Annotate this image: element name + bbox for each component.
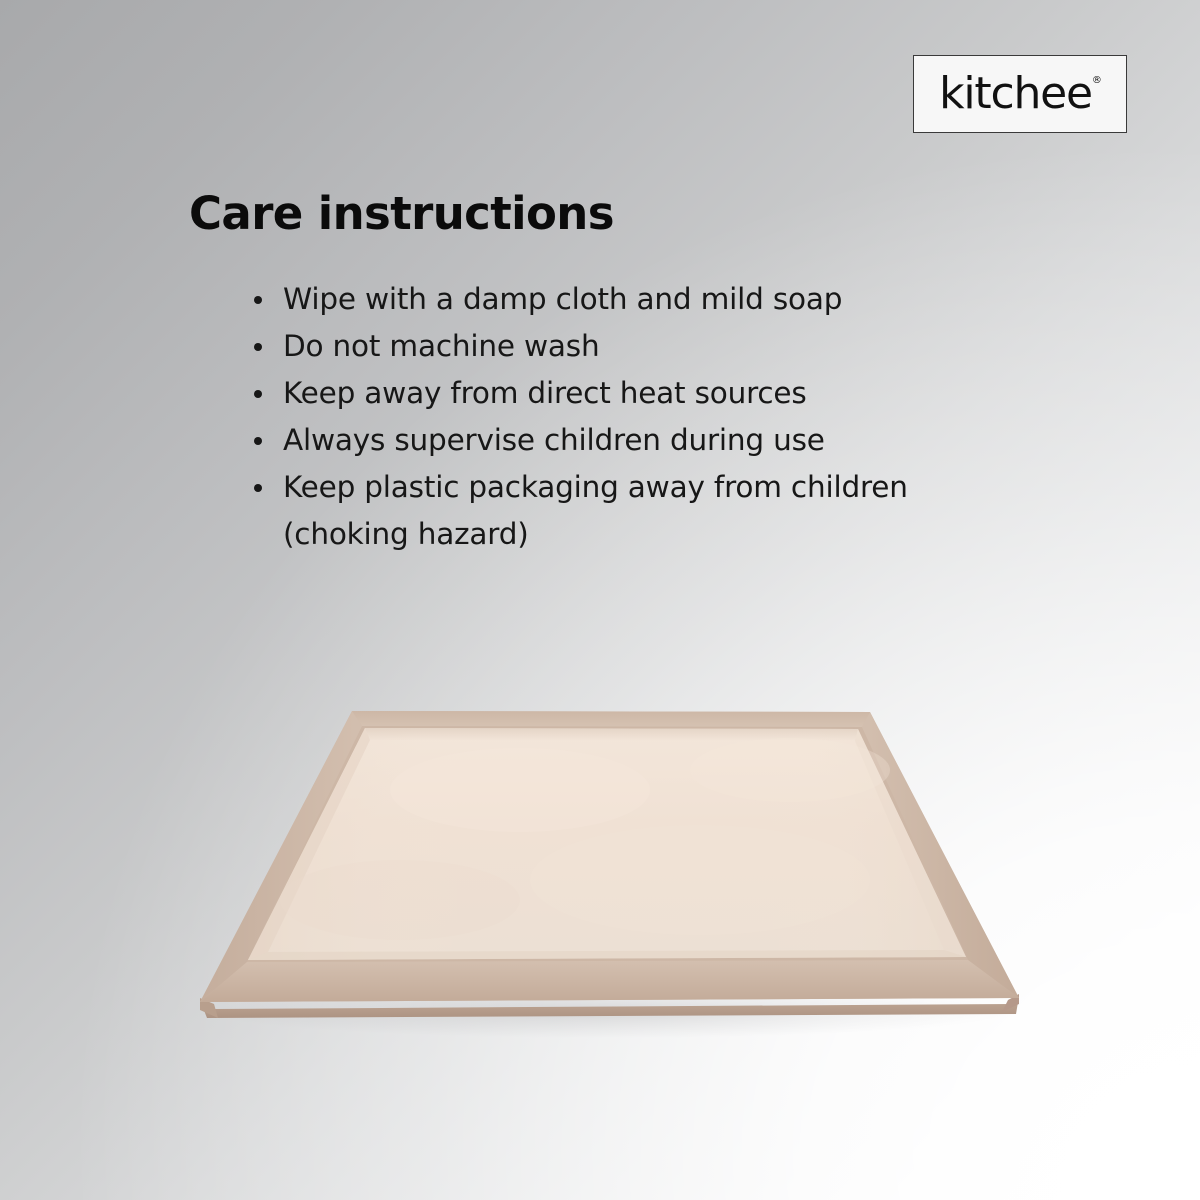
mat-inner-field-shading — [248, 728, 966, 960]
mat-inner-seam-right — [855, 729, 966, 957]
mat-inner-seam-left — [248, 728, 370, 960]
mat-sheen-b — [530, 825, 870, 935]
list-item: Always supervise children during use — [250, 417, 1040, 464]
mat-drop-shadow — [210, 986, 1010, 1038]
care-instructions-list: Wipe with a damp cloth and mild soap Do … — [250, 276, 1040, 558]
mat-inner-seam-bottom — [248, 950, 966, 960]
mat-sheen-c — [280, 860, 520, 940]
mat-left-edge — [200, 998, 218, 1018]
list-item: Keep plastic packaging away from childre… — [250, 464, 1040, 558]
bullet-icon — [254, 296, 262, 304]
mat-right-edge — [1002, 994, 1019, 1012]
list-item: Do not machine wash — [250, 323, 1040, 370]
play-mat-illustration — [0, 0, 1200, 1200]
list-item-label: Do not machine wash — [283, 329, 599, 363]
registered-trademark-icon: ® — [1092, 76, 1102, 86]
mat-inner-seam-top — [365, 728, 858, 741]
mat-border-right — [862, 712, 1019, 998]
bullet-icon — [254, 390, 262, 398]
mat-inner-field — [248, 728, 966, 960]
bullet-icon — [254, 437, 262, 445]
list-item-label: Always supervise children during use — [283, 423, 825, 457]
mat-sheen-a — [390, 748, 650, 832]
brand-wordmark-text: kitchee — [939, 68, 1092, 119]
list-item-label: Wipe with a damp cloth and mild soap — [283, 282, 842, 316]
list-item-label: Keep away from direct heat sources — [283, 376, 807, 410]
care-instructions-page: kitchee® Care instructions Wipe with a d… — [0, 0, 1200, 1200]
mat-sheen-d — [690, 738, 890, 802]
product-image — [0, 0, 1200, 1200]
mat-front-edge — [200, 996, 1019, 1018]
mat-border-top — [352, 711, 870, 727]
mat-border-bottom — [200, 960, 1019, 1002]
list-item: Keep away from direct heat sources — [250, 370, 1040, 417]
list-item-label: Keep plastic packaging away from childre… — [283, 470, 908, 551]
list-item: Wipe with a damp cloth and mild soap — [250, 276, 1040, 323]
mat-border-left — [200, 711, 362, 1002]
page-title: Care instructions — [189, 189, 614, 239]
bullet-icon — [254, 484, 262, 492]
brand-logo: kitchee® — [913, 55, 1127, 133]
mat-border-band — [200, 711, 1019, 1002]
bullet-icon — [254, 343, 262, 351]
brand-wordmark: kitchee® — [939, 72, 1101, 116]
